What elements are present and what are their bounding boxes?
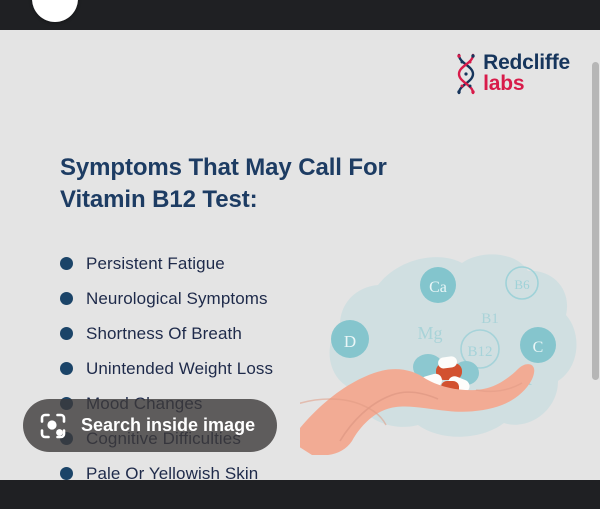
logo-word-labs: labs [483, 74, 570, 95]
symptom-label: Shortness Of Breath [86, 324, 242, 344]
list-item: Neurological Symptoms [60, 281, 400, 316]
symptom-label: Neurological Symptoms [86, 289, 268, 309]
svg-text:Mg: Mg [417, 323, 442, 343]
close-icon[interactable] [32, 0, 78, 22]
scrollbar-thumb[interactable] [592, 62, 599, 380]
svg-text:C: C [533, 339, 544, 356]
search-inside-image-button[interactable]: Search inside image [23, 399, 277, 452]
bullet-dot-icon [60, 362, 73, 375]
google-lens-icon [39, 412, 67, 440]
svg-text:B1: B1 [481, 311, 499, 327]
symptom-label: Persistent Fatigue [86, 254, 225, 274]
bottom-chrome-bar [0, 480, 600, 509]
infographic-heading: Symptoms That May Call For Vitamin B12 T… [60, 152, 480, 215]
dna-helix-icon [453, 53, 479, 95]
logo-word-redcliffe: Redcliffe [483, 53, 570, 74]
bullet-dot-icon [60, 292, 73, 305]
list-item: Unintended Weight Loss [60, 351, 400, 386]
svg-text:Ca: Ca [429, 279, 447, 296]
svg-text:B6: B6 [514, 277, 530, 292]
redcliffe-labs-logo: Redcliffe labs [453, 53, 570, 95]
logo-wordmark: Redcliffe labs [483, 53, 570, 94]
list-item: Pale Or Yellowish Skin [60, 456, 400, 480]
heading-line-2: Vitamin B12 Test: [60, 184, 480, 216]
list-item: Shortness Of Breath [60, 316, 400, 351]
bullet-dot-icon [60, 327, 73, 340]
bullet-dot-icon [60, 257, 73, 270]
search-inside-image-label: Search inside image [81, 415, 255, 436]
symptom-label: Unintended Weight Loss [86, 359, 273, 379]
symptom-label: Pale Or Yellowish Skin [86, 464, 258, 481]
heading-line-1: Symptoms That May Call For [60, 152, 480, 184]
image-viewer[interactable]: Redcliffe labs Symptoms That May Call Fo… [0, 30, 600, 480]
bullet-dot-icon [60, 467, 73, 480]
list-item: Persistent Fatigue [60, 246, 400, 281]
svg-text:B12: B12 [467, 344, 492, 360]
top-chrome-bar [0, 0, 600, 30]
